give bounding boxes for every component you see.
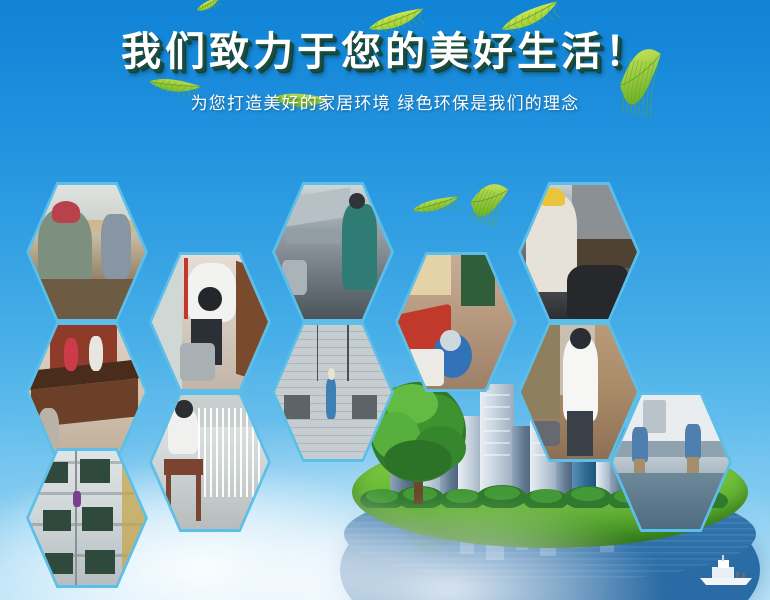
banner-headline: 我们致力于您的美好生活！ xyxy=(0,30,770,75)
banner-stage: 我们致力于您的美好生活！ 为您打造美好的家居环境 绿色环保是我们的理念 xyxy=(0,0,770,600)
boat-icon xyxy=(694,554,758,588)
headline-block: 我们致力于您的美好生活！ 为您打造美好的家居环境 绿色环保是我们的理念 xyxy=(0,30,770,114)
cloud-haze-center xyxy=(240,500,660,600)
banner-subhead: 为您打造美好的家居环境 绿色环保是我们的理念 xyxy=(0,89,770,114)
